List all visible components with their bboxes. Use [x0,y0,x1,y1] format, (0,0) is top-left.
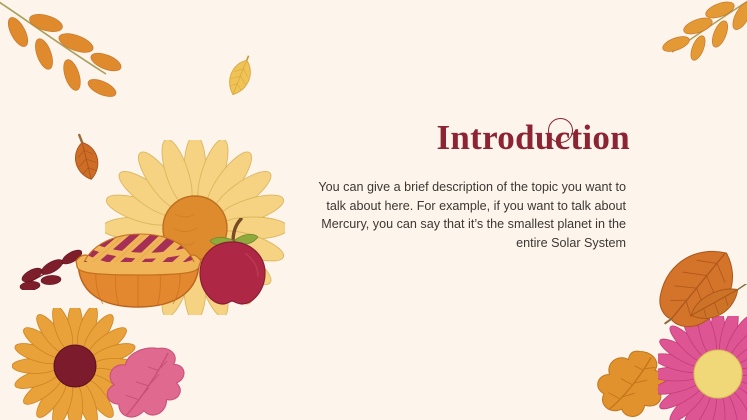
sunflower-bottom-left-icon [12,308,138,420]
lattice-apple-pie-icon [68,228,208,310]
small-gold-leaf-icon [219,55,261,100]
dark-maroon-leaf-sprig-icon [18,242,88,290]
pink-daisy-icon [658,316,747,420]
page-title: Introduction [300,118,630,158]
orange-oak-leaf-icon [590,348,690,420]
body-paragraph: You can give a brief description of the … [296,178,626,252]
leafy-branch-top-right-icon [658,0,747,74]
red-apple-icon [192,218,272,308]
pink-oak-leaf-icon [100,342,196,420]
slide-canvas: Introduction You can give a brief descri… [0,0,747,420]
title-decorative-ring [548,118,573,143]
orange-leaf-right-icon [645,238,747,336]
orange-leaf-corner-icon [678,284,747,332]
sunflower-main-icon [105,140,285,315]
leafy-branch-top-left-icon [0,0,144,111]
rust-leaf-icon [62,132,110,184]
